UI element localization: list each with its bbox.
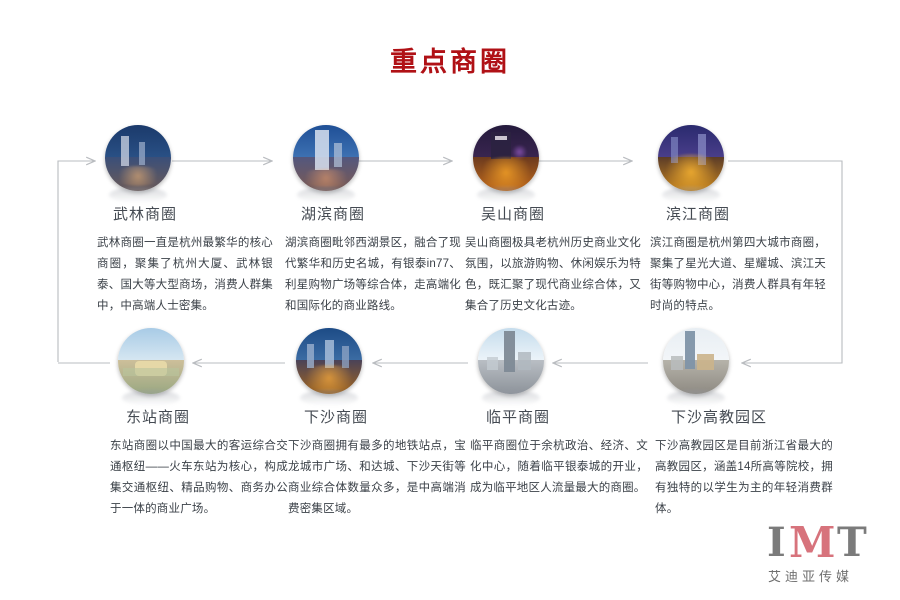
district-description: 东站商圈以中国最大的客运综合交通枢纽——火车东站为核心，构成集交通枢纽、精品购物…	[110, 436, 288, 520]
district-photo-wrap	[296, 328, 362, 394]
photo-reflection	[482, 390, 540, 406]
district-photo-wrap	[478, 328, 544, 394]
district-name: 湖滨商圈	[301, 203, 475, 224]
binjiang-night-skyline-photo	[658, 125, 724, 191]
logo-letter-m: M	[789, 526, 836, 560]
district-card-wulin[interactable]: 武林商圈 武林商圈一直是杭州最繁华的核心商圈，聚集了杭州大厦、武林银泰、国大等大…	[97, 125, 287, 317]
wulin-night-cityscape-photo	[105, 125, 171, 191]
district-photo-wrap	[105, 125, 171, 191]
district-description: 吴山商圈极具老杭州历史商业文化氛围，以旅游购物、休闲娱乐为特色，既汇聚了现代商业…	[465, 233, 641, 317]
page-title: 重点商圈	[0, 40, 900, 79]
xiasha-night-city-photo	[296, 328, 362, 394]
district-description: 湖滨商圈毗邻西湖景区，融合了现代繁华和历史名城，有银泰in77、利星购物广场等综…	[285, 233, 461, 317]
photo-reflection	[662, 187, 720, 203]
district-card-dongzhan[interactable]: 东站商圈 东站商圈以中国最大的客运综合交通枢纽——火车东站为核心，构成集交通枢纽…	[110, 328, 300, 520]
logo-mark: I M T	[765, 526, 883, 560]
district-name: 下沙商圈	[304, 406, 478, 427]
logo-letter-t: T	[837, 526, 867, 560]
photo-reflection	[300, 390, 358, 406]
district-card-xiasha-campus[interactable]: 下沙高教园区 下沙高教园区是目前浙江省最大的高教园区，涵盖14所高等院校，拥有独…	[655, 328, 845, 520]
logo-letter-i: I	[767, 526, 786, 560]
district-name: 吴山商圈	[481, 203, 655, 224]
photo-reflection	[667, 390, 725, 406]
district-photo-wrap	[293, 125, 359, 191]
district-name: 下沙高教园区	[671, 406, 845, 427]
district-description: 武林商圈一直是杭州最繁华的核心商圈，聚集了杭州大厦、武林银泰、国大等大型商场，消…	[97, 233, 273, 317]
district-card-hubin[interactable]: 湖滨商圈 湖滨商圈毗邻西湖景区，融合了现代繁华和历史名城，有银泰in77、利星购…	[285, 125, 475, 317]
wushan-neon-street-photo	[473, 125, 539, 191]
district-card-binjiang[interactable]: 滨江商圈 滨江商圈是杭州第四大城市商圈，聚集了星光大道、星耀城、滨江天街等购物中…	[650, 125, 840, 317]
linping-tower-street-photo	[478, 328, 544, 394]
photo-reflection	[477, 187, 535, 203]
photo-reflection	[122, 390, 180, 406]
district-description: 临平商圈位于余杭政治、经济、文化中心，随着临平银泰城的开业，成为临平地区人流量最…	[470, 436, 648, 499]
connector-wrap-left	[58, 161, 95, 362]
district-name: 临平商圈	[486, 406, 660, 427]
district-description: 下沙高教园区是目前浙江省最大的高教园区，涵盖14所高等院校，拥有独特的以学生为主…	[655, 436, 833, 520]
district-name: 武林商圈	[113, 203, 287, 224]
company-name: 艾迪亚传媒	[765, 566, 890, 585]
district-description: 下沙商圈拥有最多的地铁站点，宝龙城市广场、和达城、下沙天街等商业综合体数量众多，…	[288, 436, 466, 520]
company-logo: I M T 艾迪亚传媒	[765, 526, 890, 588]
district-name: 滨江商圈	[666, 203, 840, 224]
district-card-linping[interactable]: 临平商圈 临平商圈位于余杭政治、经济、文化中心，随着临平银泰城的开业，成为临平地…	[470, 328, 660, 499]
district-card-wushan[interactable]: 吴山商圈 吴山商圈极具老杭州历史商业文化氛围，以旅游购物、休闲娱乐为特色，既汇聚…	[465, 125, 655, 317]
district-card-xiasha[interactable]: 下沙商圈 下沙商圈拥有最多的地铁站点，宝龙城市广场、和达城、下沙天街等商业综合体…	[288, 328, 478, 520]
xiasha-campus-tower-photo	[663, 328, 729, 394]
district-description: 滨江商圈是杭州第四大城市商圈，聚集了星光大道、星耀城、滨江天街等购物中心，消费人…	[650, 233, 826, 317]
district-photo-wrap	[663, 328, 729, 394]
hubin-highrise-photo	[293, 125, 359, 191]
photo-reflection	[109, 187, 167, 203]
slide-canvas: 重点商圈	[0, 0, 900, 600]
district-photo-wrap	[118, 328, 184, 394]
district-photo-wrap	[658, 125, 724, 191]
district-photo-wrap	[473, 125, 539, 191]
dongzhan-aerial-station-photo	[118, 328, 184, 394]
district-name: 东站商圈	[126, 406, 300, 427]
photo-reflection	[297, 187, 355, 203]
